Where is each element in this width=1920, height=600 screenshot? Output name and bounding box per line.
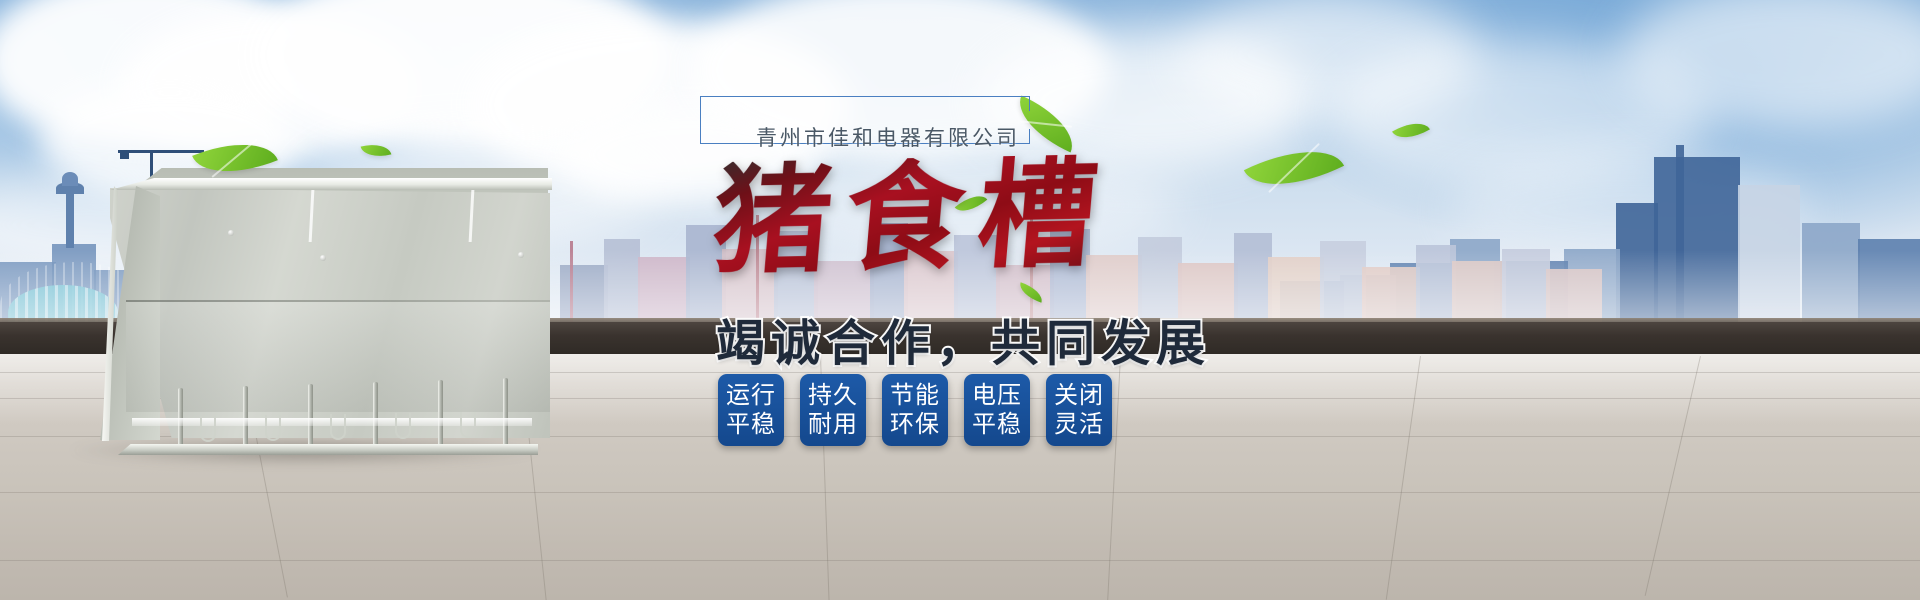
feature-badge-1[interactable]: 运行 平稳 [718,374,784,446]
construction-crane-counterweight [120,150,129,159]
company-name-frame: 青州市佳和电器有限公司 [700,96,1030,152]
page-title: 猪食槽 [709,154,1116,280]
feature-badge-3-line2: 环保 [890,410,940,439]
promo-banner: 青州市佳和电器有限公司 猪食槽 竭诚合作，共同发展 运行 平稳 持久 耐用 节能… [0,0,1920,600]
feature-badge-3-line1: 节能 [890,381,940,410]
banner-copy-block: 青州市佳和电器有限公司 猪食槽 竭诚合作，共同发展 运行 平稳 持久 耐用 节能… [690,96,1410,566]
tv-tower-cap-top [62,172,78,186]
feature-badge-4-line2: 平稳 [972,410,1022,439]
feature-badge-1-line1: 运行 [726,381,776,410]
feature-badge-4-line1: 电压 [972,381,1022,410]
slogan-subtitle: 竭诚合作，共同发展 [716,304,1211,375]
tv-tower-spire [66,188,74,248]
feature-badge-3[interactable]: 节能 环保 [882,374,948,446]
feature-badge-4[interactable]: 电压 平稳 [964,374,1030,446]
feature-badge-5[interactable]: 关闭 灵活 [1046,374,1112,446]
feature-badge-5-line1: 关闭 [1054,381,1104,410]
product-image-pig-feeding-trough [80,160,570,450]
feature-badge-2-line1: 持久 [808,381,858,410]
construction-crane-arm [118,150,204,153]
feature-badge-1-line2: 平稳 [726,410,776,439]
feature-badge-5-line2: 灵活 [1054,410,1104,439]
feature-badge-2[interactable]: 持久 耐用 [800,374,866,446]
feature-badge-list: 运行 平稳 持久 耐用 节能 环保 电压 平稳 关闭 灵活 [718,374,1112,446]
trough-bottom-sill [118,444,538,455]
feature-badge-2-line2: 耐用 [808,410,858,439]
